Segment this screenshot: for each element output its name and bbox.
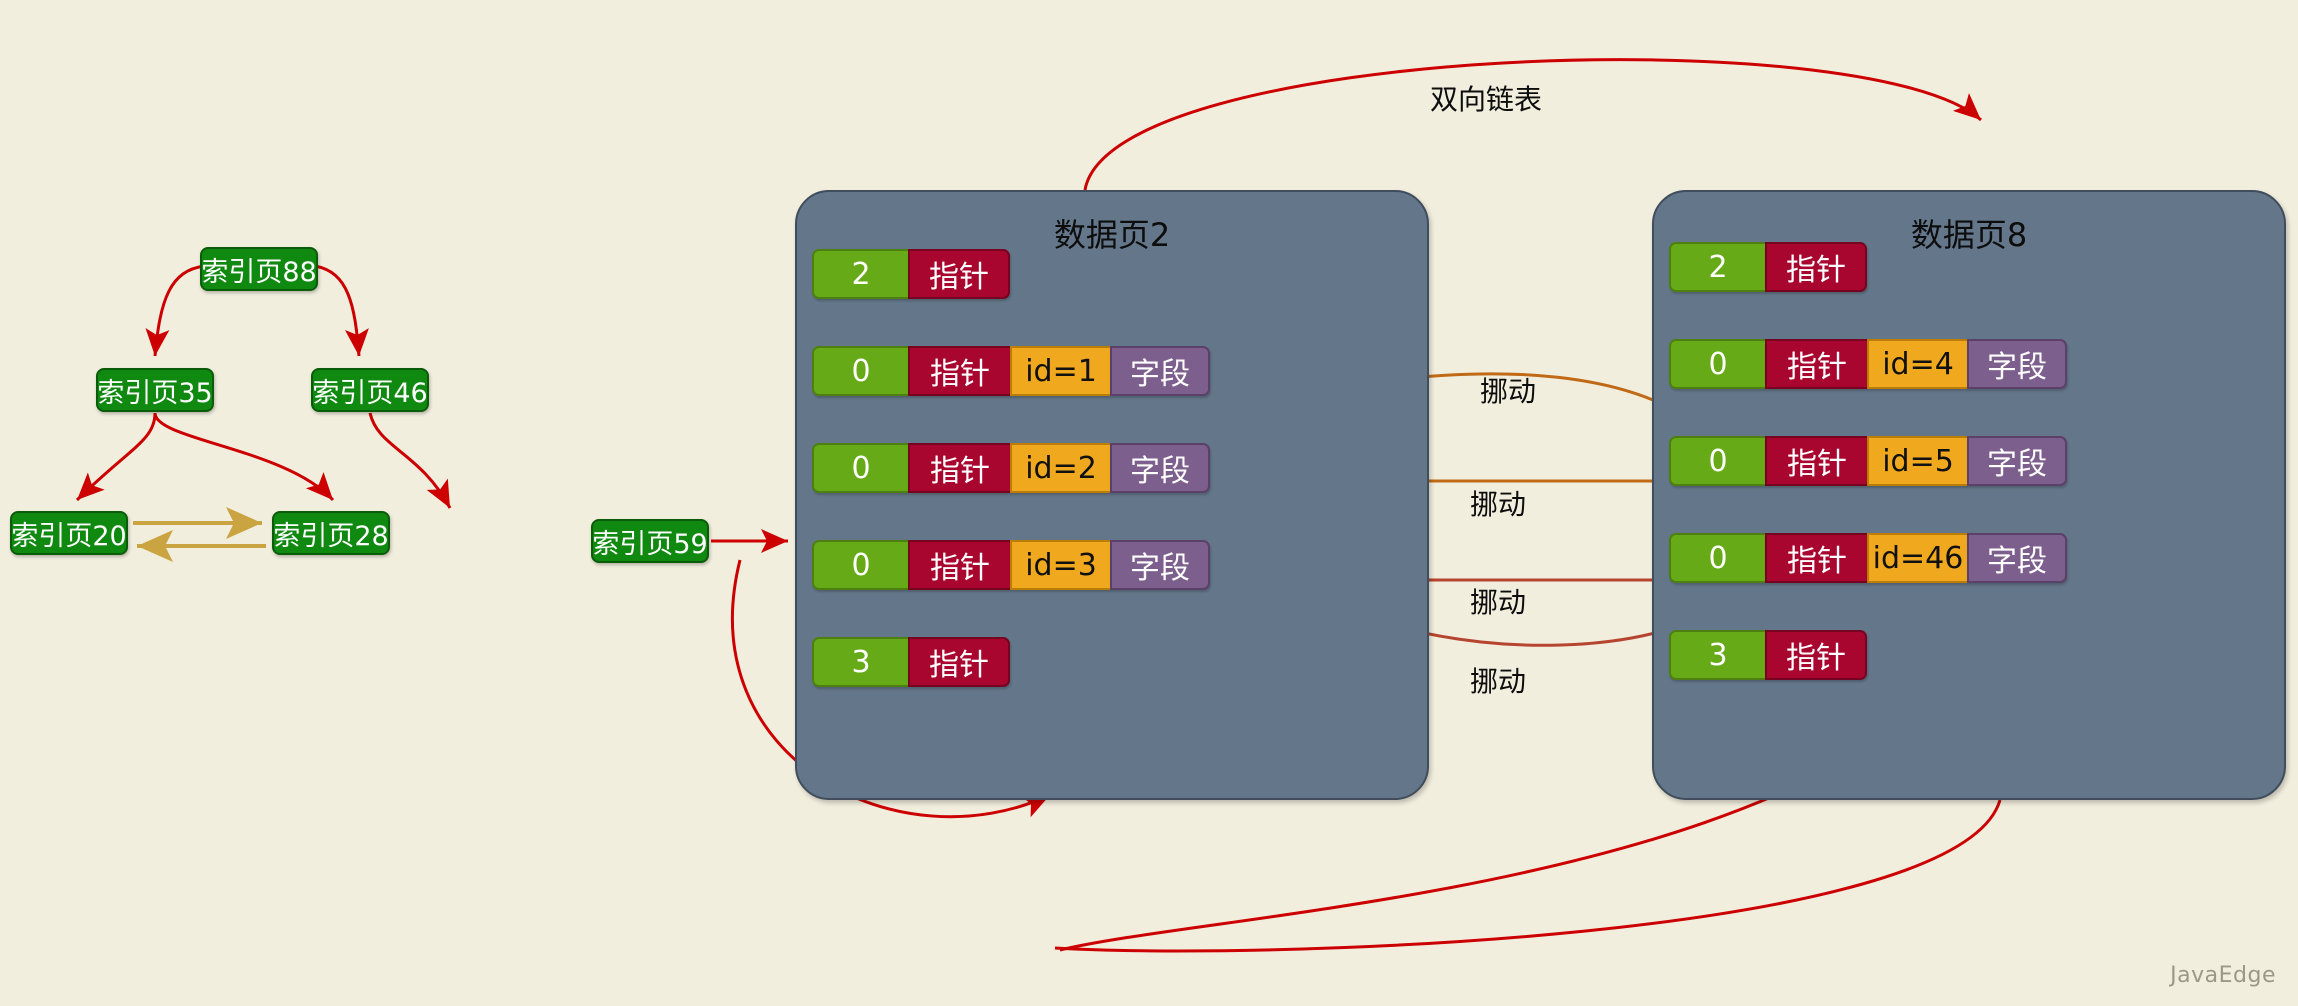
table-row[interactable]: 0 指针 id=2 字段 — [812, 443, 1210, 493]
row-id-cell: id=5 — [1867, 436, 1967, 486]
index-node-59[interactable]: 索引页59 — [591, 519, 709, 563]
diagram-canvas: 索引页88 索引页35 索引页46 索引页20 索引页28 索引页59 数据页2… — [0, 0, 2298, 1006]
row-count-cell: 0 — [812, 346, 908, 396]
row-id-cell: id=46 — [1867, 533, 1967, 583]
move-label-2: 挪动 — [1470, 483, 1526, 523]
row-field-cell: 字段 — [1110, 443, 1210, 493]
index-node-label: 索引页88 — [201, 250, 316, 289]
table-row[interactable]: 0 指针 id=1 字段 — [812, 346, 1210, 396]
row-pointer-cell: 指针 — [1765, 533, 1867, 583]
row-field-cell: 字段 — [1967, 533, 2067, 583]
row-pointer-cell: 指针 — [1765, 339, 1867, 389]
row-count-cell: 0 — [1669, 339, 1765, 389]
row-id-cell: id=4 — [1867, 339, 1967, 389]
table-row[interactable]: 0 指针 id=5 字段 — [1669, 436, 2067, 486]
row-count-cell: 3 — [1669, 630, 1765, 680]
row-count-cell: 2 — [812, 249, 908, 299]
row-pointer-cell: 指针 — [1765, 630, 1867, 680]
row-pointer-cell: 指针 — [908, 540, 1010, 590]
row-pointer-cell: 指针 — [1765, 436, 1867, 486]
table-row[interactable]: 0 指针 id=46 字段 — [1669, 533, 2067, 583]
row-pointer-cell: 指针 — [908, 346, 1010, 396]
move-label-1: 挪动 — [1480, 370, 1536, 410]
row-count-cell: 0 — [1669, 533, 1765, 583]
index-node-88[interactable]: 索引页88 — [200, 247, 318, 291]
table-row[interactable]: 0 指针 id=4 字段 — [1669, 339, 2067, 389]
row-pointer-cell: 指针 — [908, 249, 1010, 299]
row-id-cell: id=2 — [1010, 443, 1110, 493]
row-id-cell: id=3 — [1010, 540, 1110, 590]
row-field-cell: 字段 — [1110, 540, 1210, 590]
index-node-28[interactable]: 索引页28 — [272, 511, 390, 555]
index-node-20[interactable]: 索引页20 — [10, 511, 128, 555]
index-sibling-edges — [133, 523, 266, 546]
row-pointer-cell: 指针 — [1765, 242, 1867, 292]
table-row[interactable]: 2 指针 — [1669, 242, 1867, 292]
row-field-cell: 字段 — [1110, 346, 1210, 396]
row-count-cell: 0 — [1669, 436, 1765, 486]
row-count-cell: 2 — [1669, 242, 1765, 292]
index-node-label: 索引页46 — [312, 371, 427, 410]
index-node-label: 索引页28 — [273, 514, 388, 553]
data-page-8[interactable]: 数据页8 2 指针 0 指针 id=4 字段 0 指针 id=5 字段 0 指针… — [1652, 190, 2286, 800]
watermark: JavaEdge — [2170, 963, 2276, 988]
row-pointer-cell: 指针 — [908, 637, 1010, 687]
table-row[interactable]: 2 指针 — [812, 249, 1010, 299]
table-row[interactable]: 0 指针 id=3 字段 — [812, 540, 1210, 590]
index-node-label: 索引页20 — [11, 514, 126, 553]
move-label-4: 挪动 — [1470, 660, 1526, 700]
row-count-cell: 0 — [812, 540, 908, 590]
index-node-46[interactable]: 索引页46 — [311, 368, 429, 412]
table-row[interactable]: 3 指针 — [1669, 630, 1867, 680]
move-label-3: 挪动 — [1470, 581, 1526, 621]
row-count-cell: 0 — [812, 443, 908, 493]
index-node-label: 索引页59 — [592, 522, 707, 561]
row-field-cell: 字段 — [1967, 436, 2067, 486]
row-count-cell: 3 — [812, 637, 908, 687]
index-node-35[interactable]: 索引页35 — [96, 368, 214, 412]
table-row[interactable]: 3 指针 — [812, 637, 1010, 687]
row-id-cell: id=1 — [1010, 346, 1110, 396]
row-field-cell: 字段 — [1967, 339, 2067, 389]
row-pointer-cell: 指针 — [908, 443, 1010, 493]
index-node-label: 索引页35 — [97, 371, 212, 410]
doubly-linked-list-label: 双向链表 — [1430, 78, 1542, 118]
data-page-2[interactable]: 数据页2 2 指针 0 指针 id=1 字段 0 指针 id=2 字段 0 指针… — [795, 190, 1429, 800]
